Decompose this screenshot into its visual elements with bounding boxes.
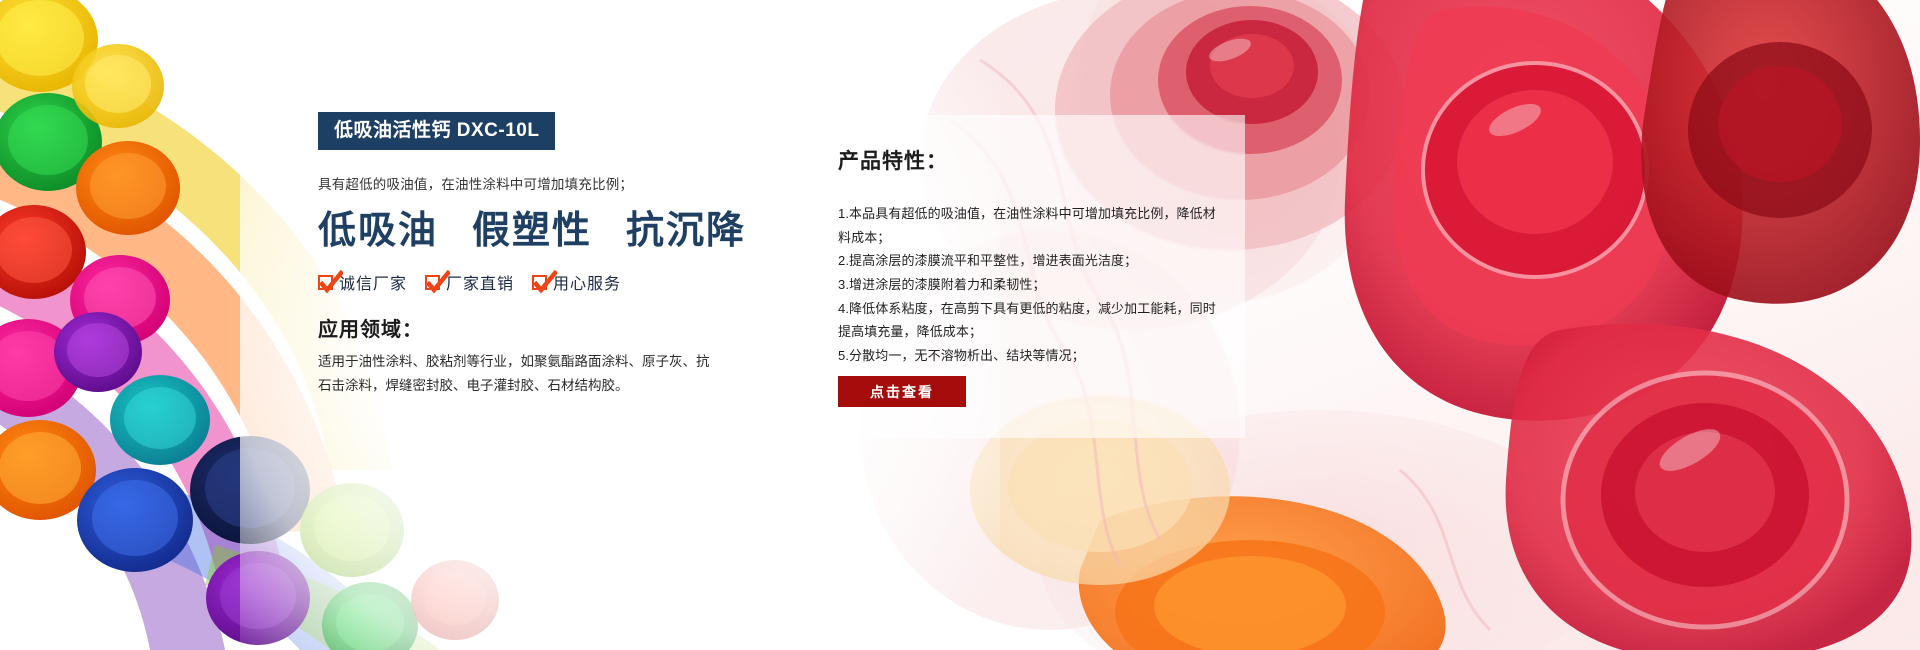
view-details-button[interactable]: 点击查看 bbox=[838, 376, 966, 407]
application-description: 适用于油性涂料、胶粘剂等行业，如聚氨酯路面涂料、原子灰、抗石击涂料，焊缝密封胶、… bbox=[318, 350, 710, 397]
product-subtitle: 具有超低的吸油值，在油性涂料中可增加填充比例； bbox=[318, 175, 748, 195]
feature-item: 5.分散均一，无不溶物析出、结块等情况； bbox=[838, 344, 1216, 368]
product-banner: 低吸油活性钙 DXC-10L 具有超低的吸油值，在油性涂料中可增加填充比例； 低… bbox=[0, 0, 1920, 650]
checkbox-checked-icon bbox=[425, 275, 440, 290]
checkbox-checked-icon bbox=[318, 275, 333, 290]
selling-point-3: 用心服务 bbox=[532, 270, 621, 294]
selling-point-1: 诚信厂家 bbox=[318, 270, 407, 294]
keyword-3: 抗沉降 bbox=[626, 211, 746, 253]
selling-point-3-label: 用心服务 bbox=[553, 270, 621, 294]
feature-item: 1.本品具有超低的吸油值，在油性涂料中可增加填充比例，降低材料成本； bbox=[838, 202, 1216, 249]
application-heading: 应用领域： bbox=[318, 313, 748, 342]
product-features-content: 产品特性： 1.本品具有超低的吸油值，在油性涂料中可增加填充比例，降低材料成本；… bbox=[838, 145, 1235, 368]
keyword-1: 低吸油 bbox=[318, 211, 438, 253]
feature-item: 4.降低体系粘度，在高剪下具有更低的粘度，减少加工能耗，同时提高填充量，降低成本… bbox=[838, 297, 1216, 344]
selling-points-row: 诚信厂家 厂家直销 用心服务 bbox=[318, 270, 748, 294]
feature-item: 3.增进涂层的漆膜附着力和柔韧性； bbox=[838, 273, 1216, 297]
product-features-title: 产品特性： bbox=[838, 145, 1235, 175]
selling-point-2: 厂家直销 bbox=[425, 270, 514, 294]
left-content-column: 低吸油活性钙 DXC-10L 具有超低的吸油值，在油性涂料中可增加填充比例； 低… bbox=[318, 112, 748, 397]
feature-item: 2.提高涂层的漆膜流平和平整性，增进表面光洁度； bbox=[838, 249, 1216, 273]
keyword-2: 假塑性 bbox=[472, 211, 592, 253]
selling-point-1-label: 诚信厂家 bbox=[339, 270, 407, 294]
keyword-row: 低吸油 假塑性 抗沉降 bbox=[318, 211, 748, 253]
selling-point-2-label: 厂家直销 bbox=[446, 270, 514, 294]
product-features-list: 1.本品具有超低的吸油值，在油性涂料中可增加填充比例，降低材料成本； 2.提高涂… bbox=[838, 202, 1235, 368]
checkbox-checked-icon bbox=[532, 275, 547, 290]
product-title-badge: 低吸油活性钙 DXC-10L bbox=[318, 112, 555, 150]
